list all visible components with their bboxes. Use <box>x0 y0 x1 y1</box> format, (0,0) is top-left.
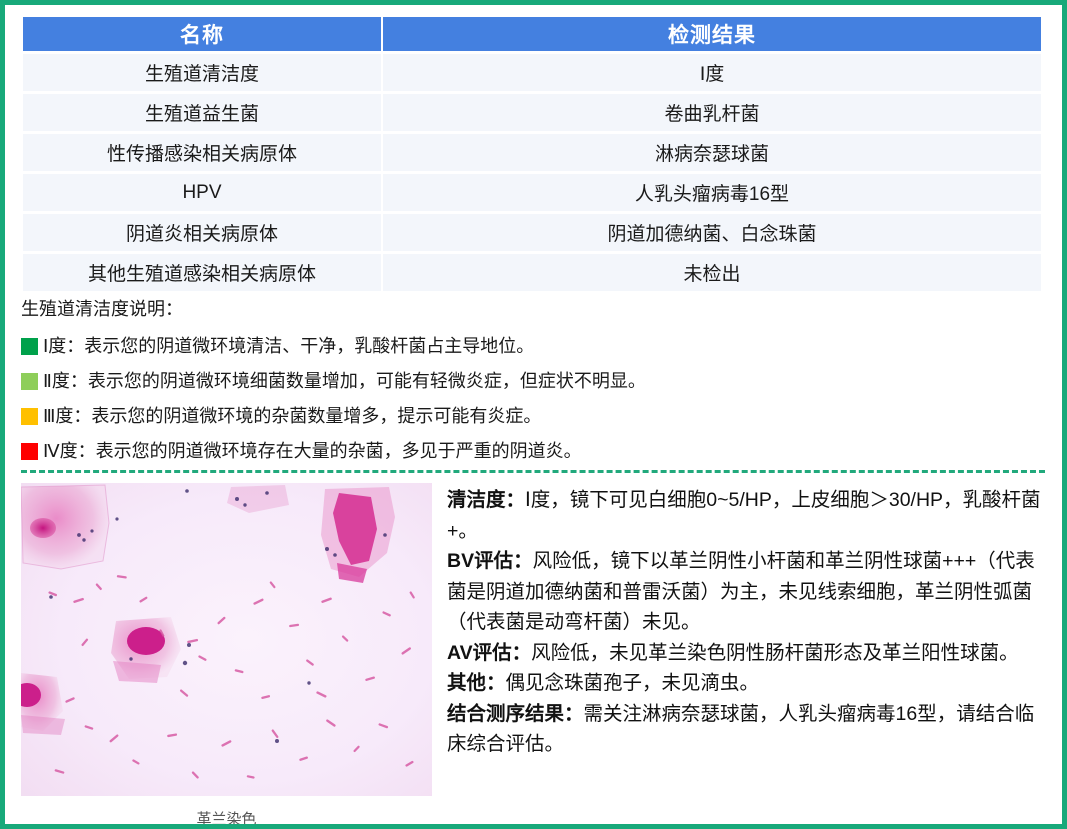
cleanliness-legend: 生殖道清洁度说明： Ⅰ度：表示您的阴道微环境清洁、干净，乳酸杆菌占主导地位。Ⅱ度… <box>21 297 1045 470</box>
table-row: 其他生殖道感染相关病原体未检出 <box>23 254 1041 291</box>
column-header-name: 名称 <box>23 17 381 51</box>
interpretation-line: 其他：偶见念珠菌孢子，未见滴虫。 <box>447 668 1045 699</box>
cell-test-name: HPV <box>23 174 381 211</box>
cell-test-name: 其他生殖道感染相关病原体 <box>23 254 381 291</box>
report-page: 名称 检测结果 生殖道清洁度Ⅰ度生殖道益生菌卷曲乳杆菌性传播感染相关病原体淋病奈… <box>0 0 1067 829</box>
interpretation-line: 清洁度：Ⅰ度，镜下可见白细胞0~5/HP，上皮细胞＞30/HP，乳酸杆菌+。 <box>447 485 1045 546</box>
section-divider <box>21 470 1045 473</box>
legend-item-text: Ⅱ度：表示您的阴道微环境细菌数量增加，可能有轻微炎症，但症状不明显。 <box>43 371 646 391</box>
legend-item-text: Ⅳ度：表示您的阴道微环境存在大量的杂菌，多见于严重的阴道炎。 <box>43 441 582 461</box>
interpretation-line: AV评估：风险低，未见革兰染色阴性肠杆菌形态及革兰阳性球菌。 <box>447 638 1045 669</box>
table-row: 阴道炎相关病原体阴道加德纳菌、白念珠菌 <box>23 214 1041 251</box>
interpretation-text: 清洁度：Ⅰ度，镜下可见白细胞0~5/HP，上皮细胞＞30/HP，乳酸杆菌+。BV… <box>432 483 1045 760</box>
microscopy-section: 革兰染色 清洁度：Ⅰ度，镜下可见白细胞0~5/HP，上皮细胞＞30/HP，乳酸杆… <box>21 483 1045 829</box>
report-inner-frame: 名称 检测结果 生殖道清洁度Ⅰ度生殖道益生菌卷曲乳杆菌性传播感染相关病原体淋病奈… <box>5 5 1062 824</box>
table-header-row: 名称 检测结果 <box>23 17 1041 51</box>
table-body: 生殖道清洁度Ⅰ度生殖道益生菌卷曲乳杆菌性传播感染相关病原体淋病奈瑟球菌HPV人乳… <box>23 54 1041 291</box>
legend-item: Ⅱ度：表示您的阴道微环境细菌数量增加，可能有轻微炎症，但症状不明显。 <box>21 365 1045 397</box>
gram-stain-image <box>21 483 432 796</box>
table-row: HPV人乳头瘤病毒16型 <box>23 174 1041 211</box>
table-row: 生殖道益生菌卷曲乳杆菌 <box>23 94 1041 131</box>
legend-color-swatch-icon <box>21 408 38 425</box>
interpretation-body: 风险低，未见革兰染色阴性肠杆菌形态及革兰阳性球菌。 <box>531 642 1019 664</box>
cell-test-name: 生殖道益生菌 <box>23 94 381 131</box>
cell-test-name: 性传播感染相关病原体 <box>23 134 381 171</box>
specimen-image-block: 革兰染色 <box>21 483 432 829</box>
cell-test-name: 生殖道清洁度 <box>23 54 381 91</box>
cell-test-result: 淋病奈瑟球菌 <box>383 134 1041 171</box>
cell-test-result: 阴道加德纳菌、白念珠菌 <box>383 214 1041 251</box>
interpretation-label: 其他： <box>447 672 506 694</box>
legend-rows: Ⅰ度：表示您的阴道微环境清洁、干净，乳酸杆菌占主导地位。Ⅱ度：表示您的阴道微环境… <box>21 330 1045 467</box>
legend-color-swatch-icon <box>21 443 38 460</box>
legend-color-swatch-icon <box>21 338 38 355</box>
specimen-caption: 革兰染色 <box>21 796 432 829</box>
legend-item: Ⅳ度：表示您的阴道微环境存在大量的杂菌，多见于严重的阴道炎。 <box>21 435 1045 467</box>
cell-test-result: 未检出 <box>383 254 1041 291</box>
interpretation-line: 结合测序结果：需关注淋病奈瑟球菌，人乳头瘤病毒16型，请结合临床综合评估。 <box>447 699 1045 760</box>
cell-test-result: 人乳头瘤病毒16型 <box>383 174 1041 211</box>
interpretation-body: 风险低，镜下以革兰阴性小杆菌和革兰阴性球菌+++（代表菌是阴道加德纳菌和普雷沃菌… <box>447 550 1035 633</box>
interpretation-label: BV评估： <box>447 550 533 572</box>
legend-color-swatch-icon <box>21 373 38 390</box>
test-results-table: 名称 检测结果 生殖道清洁度Ⅰ度生殖道益生菌卷曲乳杆菌性传播感染相关病原体淋病奈… <box>21 14 1043 294</box>
cell-test-result: Ⅰ度 <box>383 54 1041 91</box>
interpretation-label: AV评估： <box>447 642 531 664</box>
legend-item: Ⅲ度：表示您的阴道微环境的杂菌数量增多，提示可能有炎症。 <box>21 400 1045 432</box>
interpretation-line: BV评估：风险低，镜下以革兰阴性小杆菌和革兰阴性球菌+++（代表菌是阴道加德纳菌… <box>447 546 1045 638</box>
cell-test-name: 阴道炎相关病原体 <box>23 214 381 251</box>
column-header-result: 检测结果 <box>383 17 1041 51</box>
table-row: 性传播感染相关病原体淋病奈瑟球菌 <box>23 134 1041 171</box>
legend-item: Ⅰ度：表示您的阴道微环境清洁、干净，乳酸杆菌占主导地位。 <box>21 330 1045 362</box>
legend-title: 生殖道清洁度说明： <box>21 297 1045 321</box>
cell-test-result: 卷曲乳杆菌 <box>383 94 1041 131</box>
interpretation-label: 结合测序结果： <box>447 703 584 725</box>
interpretation-label: 清洁度： <box>447 489 525 511</box>
interpretation-body: Ⅰ度，镜下可见白细胞0~5/HP，上皮细胞＞30/HP，乳酸杆菌+。 <box>447 489 1041 542</box>
legend-item-text: Ⅲ度：表示您的阴道微环境的杂菌数量增多，提示可能有炎症。 <box>43 406 541 426</box>
table-row: 生殖道清洁度Ⅰ度 <box>23 54 1041 91</box>
legend-item-text: Ⅰ度：表示您的阴道微环境清洁、干净，乳酸杆菌占主导地位。 <box>43 336 534 356</box>
interpretation-body: 偶见念珠菌孢子，未见滴虫。 <box>506 672 760 694</box>
